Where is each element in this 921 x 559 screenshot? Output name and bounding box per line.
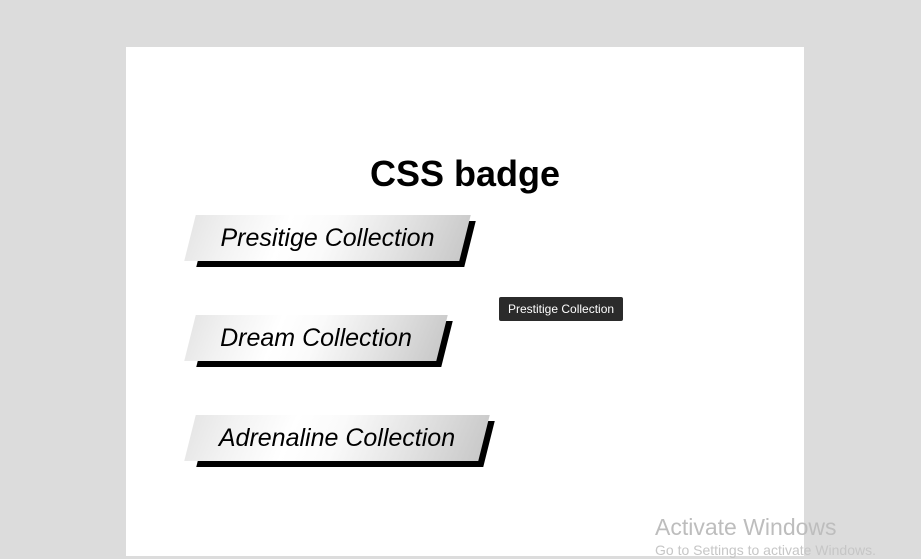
page-title: CSS badge — [126, 153, 804, 195]
badge-label: Adrenaline Collection — [190, 415, 484, 461]
watermark-title: Activate Windows — [655, 514, 876, 541]
badge-item[interactable]: Adrenaline Collection — [190, 407, 790, 507]
badge-tooltip: Prestitige Collection — [499, 297, 623, 321]
badge-label: Dream Collection — [190, 315, 442, 361]
badge-label: Presitige Collection — [190, 215, 465, 261]
page-canvas: CSS badge Presitige Collection Dream Col… — [126, 47, 804, 556]
badge-list: Presitige Collection Dream Collection Ad… — [190, 207, 790, 507]
badge-item[interactable]: Dream Collection — [190, 307, 790, 407]
badge-item[interactable]: Presitige Collection — [190, 207, 790, 307]
windows-activation-watermark: Activate Windows Go to Settings to activ… — [655, 514, 876, 559]
watermark-subtitle: Go to Settings to activate Windows. — [655, 541, 876, 559]
